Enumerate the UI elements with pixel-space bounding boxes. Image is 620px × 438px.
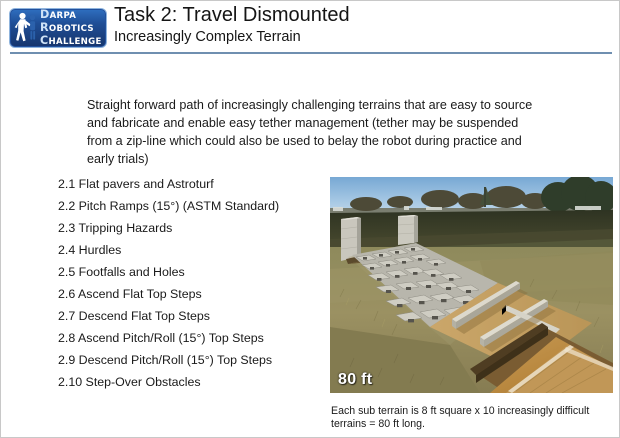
list-item: 2.9 Descend Pitch/Roll (15°) Top Steps (58, 353, 323, 375)
logo-line-darpa: DARPA (40, 9, 106, 21)
photo-caption: Each sub terrain is 8 ft square x 10 inc… (331, 405, 616, 431)
list-item: 2.7 Descend Flat Top Steps (58, 309, 323, 331)
title-block: Task 2: Travel Dismounted Increasingly C… (114, 4, 614, 46)
robot-figure-icon (13, 11, 39, 45)
slide-header: DARPA ROBOTICS CHALLENGE Task 2: Travel … (1, 1, 620, 54)
header-divider (10, 52, 612, 54)
list-item: 2.5 Footfalls and Holes (58, 265, 323, 287)
logo-line-robotics: ROBOTICS (40, 22, 106, 34)
list-item: 2.10 Step-Over Obstacles (58, 375, 323, 397)
photo-scale-label: 80 ft (338, 371, 372, 389)
terrain-course-photograph: 80 ft (330, 177, 613, 393)
list-item: 2.3 Tripping Hazards (58, 221, 323, 243)
slide: DARPA ROBOTICS CHALLENGE Task 2: Travel … (0, 0, 620, 438)
terrain-list: 2.1 Flat pavers and Astroturf 2.2 Pitch … (58, 177, 323, 397)
list-item: 2.1 Flat pavers and Astroturf (58, 177, 323, 199)
darpa-robotics-challenge-logo: DARPA ROBOTICS CHALLENGE (9, 8, 107, 48)
logo-line-challenge: CHALLENGE (40, 35, 106, 47)
photo-image (330, 177, 613, 393)
list-item: 2.2 Pitch Ramps (15°) (ASTM Standard) (58, 199, 323, 221)
list-item: 2.6 Ascend Flat Top Steps (58, 287, 323, 309)
intro-paragraph: Straight forward path of increasingly ch… (87, 96, 539, 168)
list-item: 2.8 Ascend Pitch/Roll (15°) Top Steps (58, 331, 323, 353)
page-subtitle: Increasingly Complex Terrain (114, 28, 614, 46)
page-title: Task 2: Travel Dismounted (114, 4, 614, 27)
list-item: 2.4 Hurdles (58, 243, 323, 265)
